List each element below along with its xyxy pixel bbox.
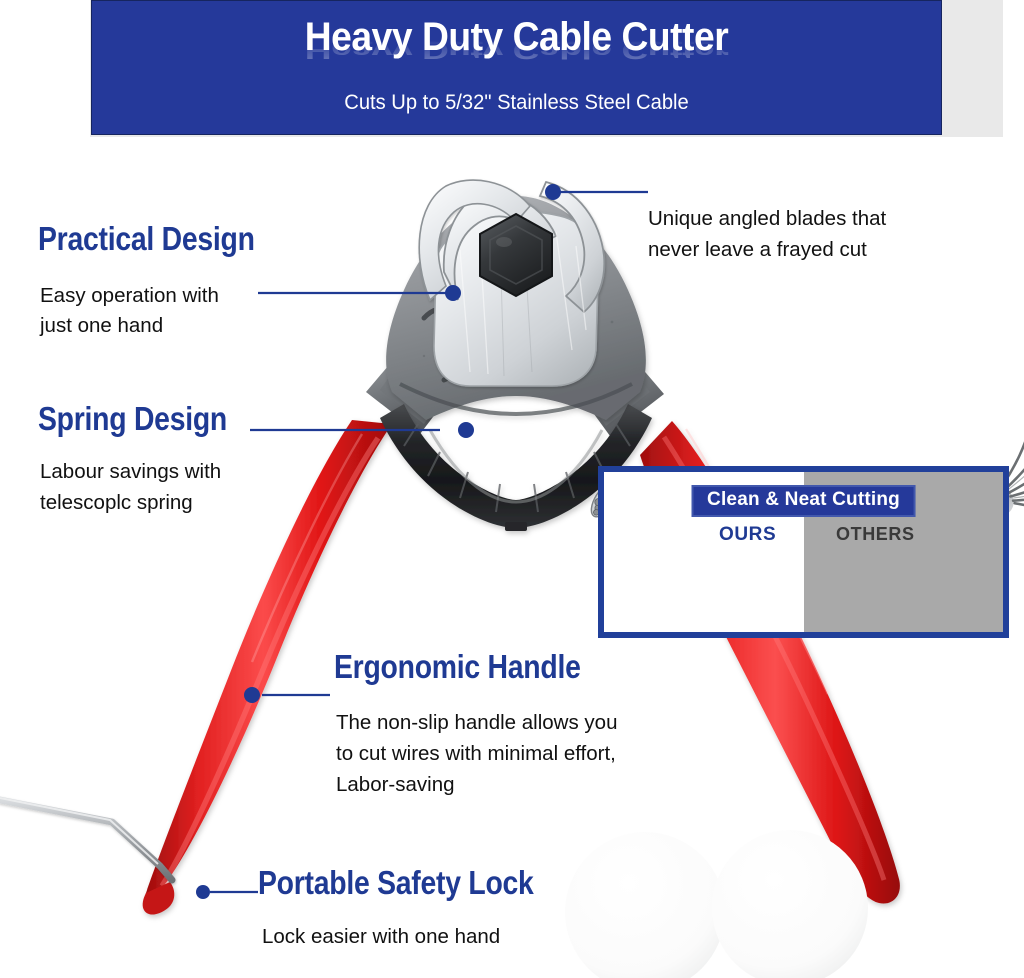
callout-body-blades-line2: never leave a frayed cut	[648, 236, 978, 263]
callout-body-ergonomic-handle-line1: The non-slip handle allows you	[336, 709, 686, 736]
callout-body-portable-safety-lock-line1: Lock easier with one hand	[262, 923, 592, 950]
callout-body-practical-design-line1: Easy operation with	[40, 282, 290, 309]
callout-text-layer: Practical Design Easy operation with jus…	[0, 0, 1024, 978]
callout-body-ergonomic-handle-line2: to cut wires with minimal effort,	[336, 740, 686, 767]
callout-body-spring-design-line2: telescoplc spring	[40, 489, 290, 516]
callout-body-practical-design-line2: just one hand	[40, 312, 290, 339]
callout-heading-spring-design: Spring Design	[38, 402, 227, 435]
callout-heading-portable-safety-lock: Portable Safety Lock	[258, 866, 534, 899]
callout-body-ergonomic-handle-line3: Labor-saving	[336, 771, 686, 798]
callout-body-blades-line1: Unique angled blades that	[648, 205, 978, 232]
infographic-canvas: Heavy Duty Cable Cutter Heavy Duty Cable…	[0, 0, 1024, 978]
callout-body-spring-design-line1: Labour savings with	[40, 458, 290, 485]
callout-heading-practical-design: Practical Design	[38, 222, 255, 255]
callout-heading-ergonomic-handle: Ergonomic Handle	[334, 650, 581, 683]
